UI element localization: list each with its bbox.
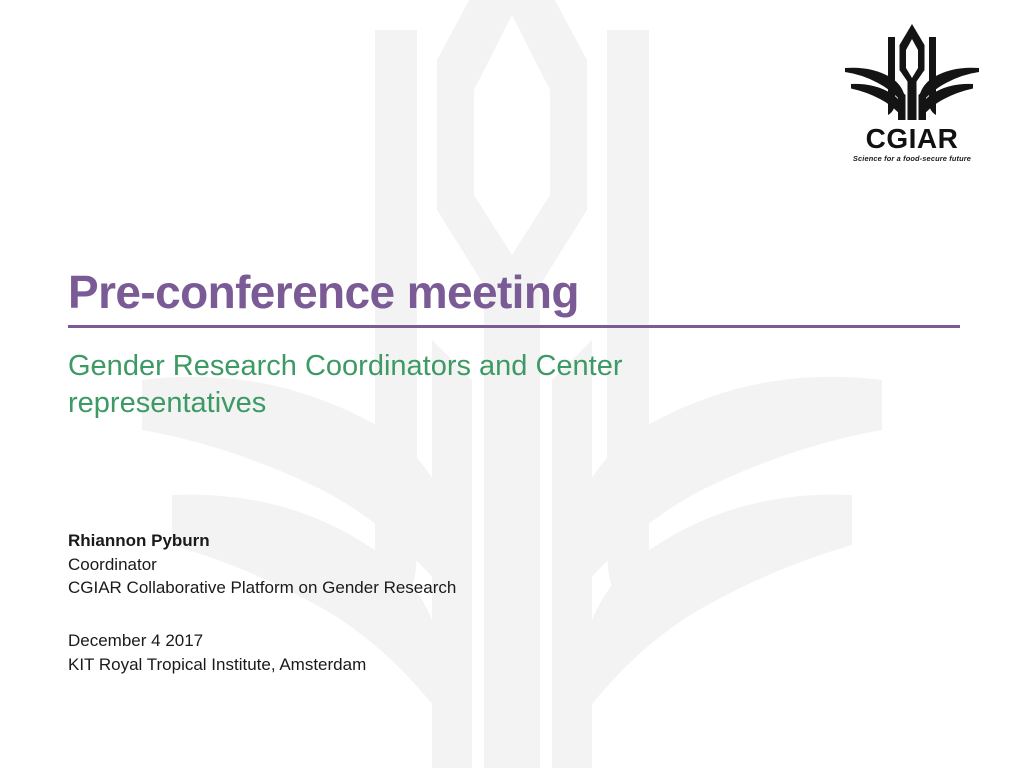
event-block: December 4 2017 KIT Royal Tropical Insti… [68, 629, 768, 676]
title-divider-rule [68, 325, 960, 328]
presenter-block: Rhiannon Pyburn Coordinator CGIAR Collab… [68, 529, 768, 600]
cgiar-wheat-emblem-icon [842, 22, 982, 122]
presenter-organization: CGIAR Collaborative Platform on Gender R… [68, 576, 768, 600]
slide-subtitle: Gender Research Coordinators and Center … [68, 348, 748, 422]
presenter-name: Rhiannon Pyburn [68, 529, 768, 553]
cgiar-logo: CGIAR Science for a food-secure future [842, 22, 982, 170]
event-venue: KIT Royal Tropical Institute, Amsterdam [68, 653, 768, 677]
slide-title: Pre-conference meeting [68, 268, 579, 318]
slide-content: Pre-conference meeting Gender Research C… [68, 0, 968, 768]
cgiar-wordmark: CGIAR [842, 124, 982, 153]
presentation-slide: CGIAR Science for a food-secure future P… [0, 0, 1024, 768]
event-date: December 4 2017 [68, 629, 768, 653]
presenter-role: Coordinator [68, 553, 768, 577]
cgiar-tagline: Science for a food-secure future [842, 154, 982, 163]
